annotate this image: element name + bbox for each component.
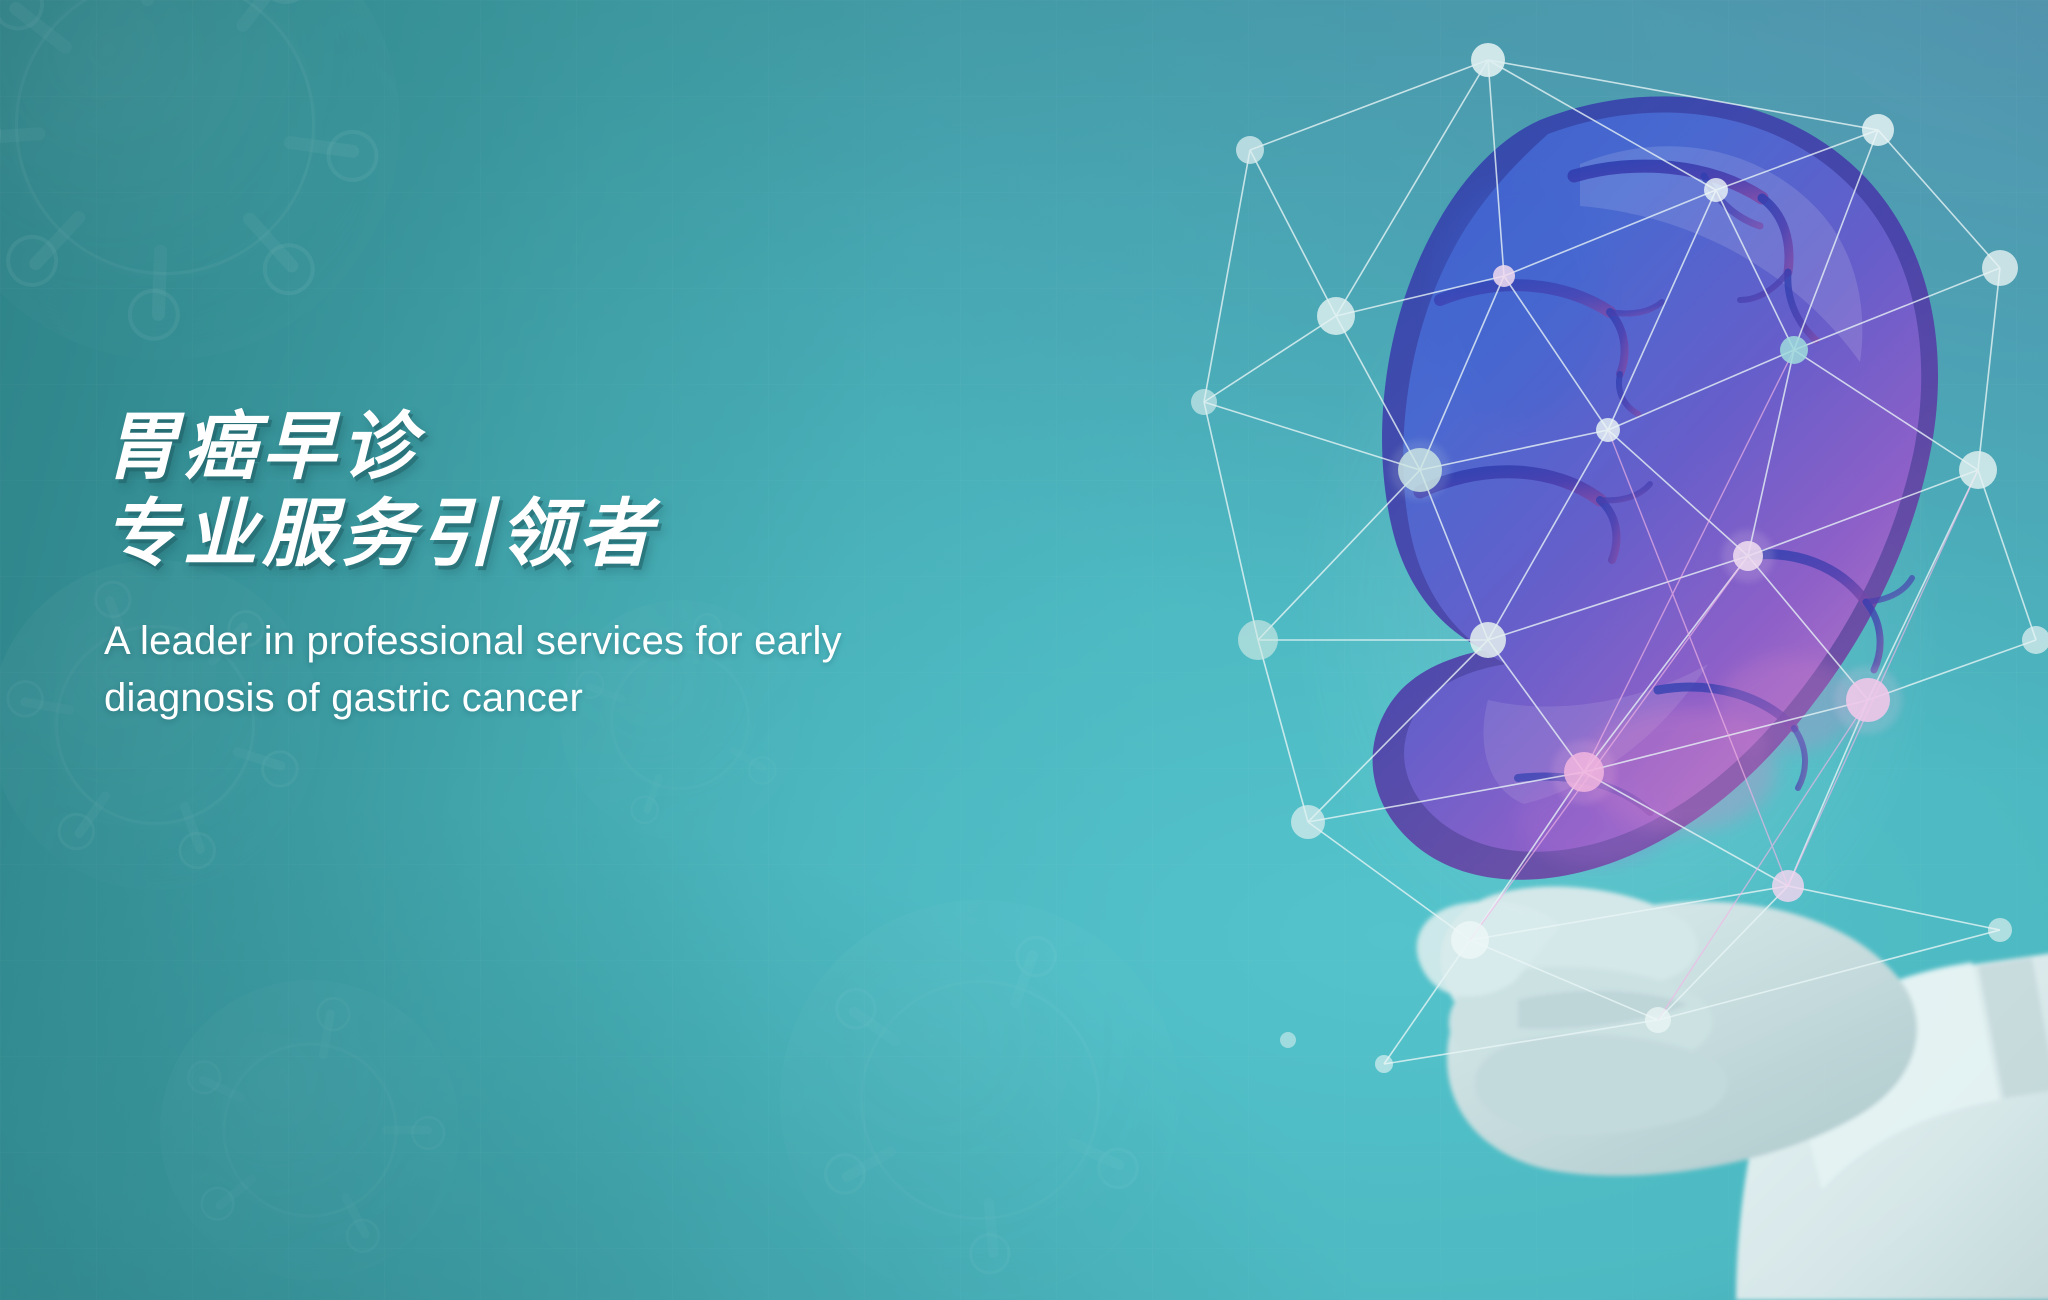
page-title: 胃癌早诊 专业服务引领者 [104,404,1114,577]
hero-artwork [1188,0,2048,1300]
subhead-line-1: A leader in professional services for ea… [104,619,842,663]
open-hand-lab-coat [1417,886,2048,1300]
page-subtitle: A leader in professional services for ea… [104,613,1104,727]
hero-banner: 胃癌早诊 专业服务引领者 A leader in professional se… [0,0,2048,1300]
network-node [1280,1032,1296,1048]
headline-line-2: 专业服务引领者 [104,491,1114,578]
hero-copy: 胃癌早诊 专业服务引领者 A leader in professional se… [104,404,1114,727]
subhead-line-2: diagnosis of gastric cancer [104,670,1104,727]
headline-line-1: 胃癌早诊 [104,405,420,488]
